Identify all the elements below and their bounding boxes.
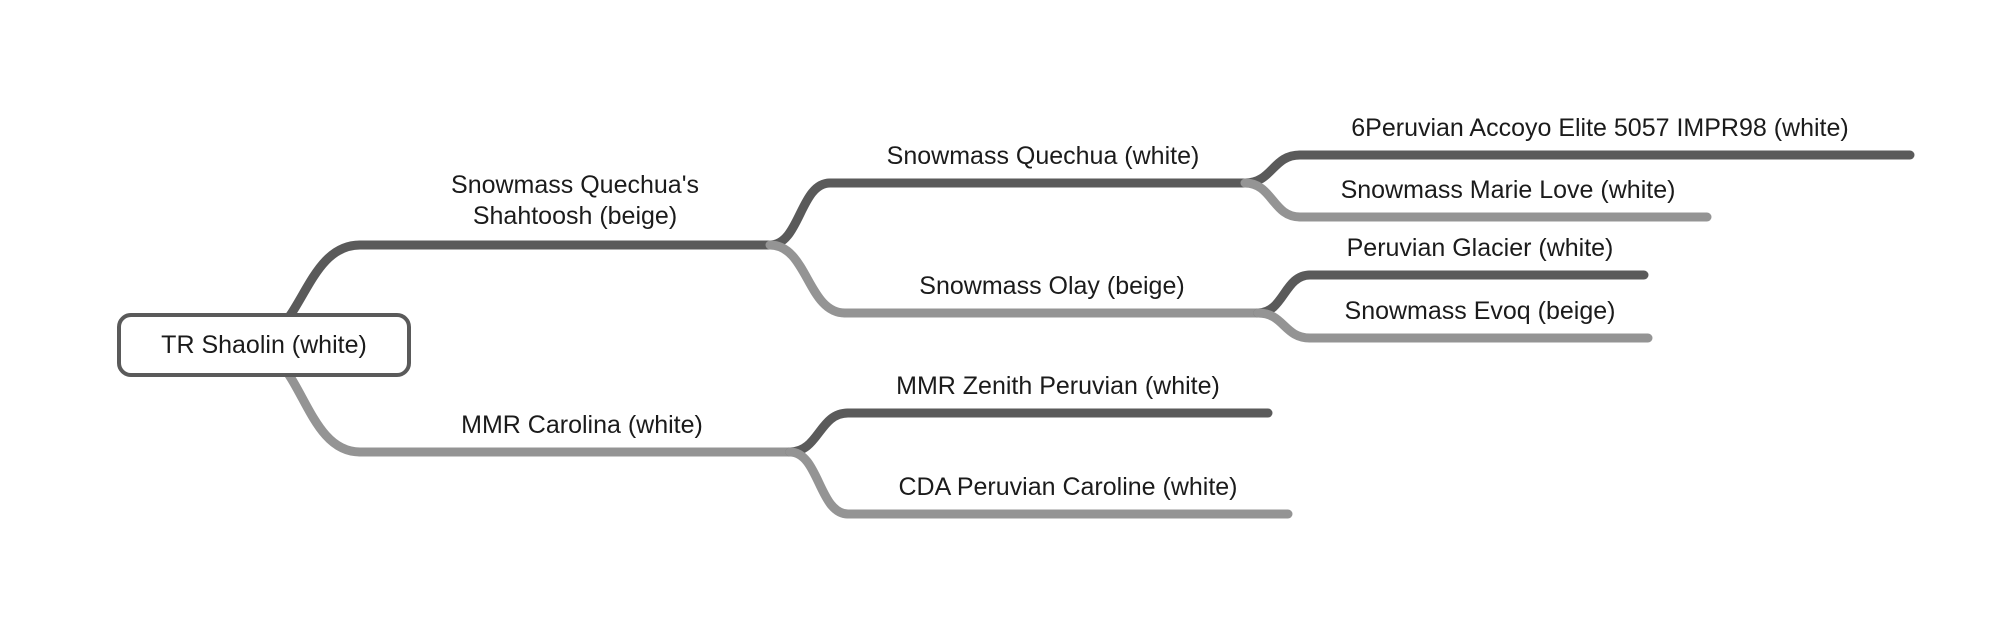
node-label-snowmass-quechua[interactable]: Snowmass Quechua (white) [887, 141, 1200, 172]
tree-connector-layer [0, 0, 2000, 622]
edge-snowmass-quechuas-shahtoosh-to-snowmass-quechua [770, 183, 830, 245]
edge-mmr-carolina-to-mmr-zenith-peruvian [790, 413, 848, 452]
node-label-line: Shahtoosh (beige) [451, 201, 699, 232]
node-label-peruvian-glacier[interactable]: Peruvian Glacier (white) [1347, 233, 1614, 264]
edge-mmr-carolina-to-cda-peruvian-caroline [790, 452, 848, 514]
node-label-snowmass-quechuas-shahtoosh[interactable]: Snowmass Quechua'sShahtoosh (beige) [451, 170, 699, 232]
root-node-label: TR Shaolin (white) [161, 331, 367, 360]
edge-snowmass-olay-to-peruvian-glacier [1258, 275, 1310, 313]
pedigree-diagram: Snowmass Quechua'sShahtoosh (beige)MMR C… [0, 0, 2000, 622]
node-label-mmr-carolina[interactable]: MMR Carolina (white) [461, 410, 703, 441]
edge-snowmass-olay-to-snowmass-evoq [1258, 313, 1310, 338]
edge-snowmass-quechua-to-6peruvian-accoyo-elite-5057-impr98 [1245, 155, 1300, 183]
node-label-snowmass-evoq[interactable]: Snowmass Evoq (beige) [1345, 296, 1616, 327]
root-node[interactable]: TR Shaolin (white) [117, 313, 411, 377]
node-label-snowmass-marie-love[interactable]: Snowmass Marie Love (white) [1341, 175, 1676, 206]
node-label-cda-peruvian-caroline[interactable]: CDA Peruvian Caroline (white) [898, 472, 1237, 503]
node-label-6peruvian-accoyo-elite-5057-impr98[interactable]: 6Peruvian Accoyo Elite 5057 IMPR98 (whit… [1351, 113, 1848, 144]
node-label-line: Snowmass Quechua's [451, 170, 699, 201]
edge-snowmass-quechuas-shahtoosh-to-snowmass-olay [770, 245, 845, 313]
edge-snowmass-quechua-to-snowmass-marie-love [1245, 183, 1300, 217]
node-label-line: MMR Carolina (white) [461, 410, 703, 441]
node-label-snowmass-olay[interactable]: Snowmass Olay (beige) [919, 271, 1184, 302]
node-label-mmr-zenith-peruvian[interactable]: MMR Zenith Peruvian (white) [896, 371, 1220, 402]
